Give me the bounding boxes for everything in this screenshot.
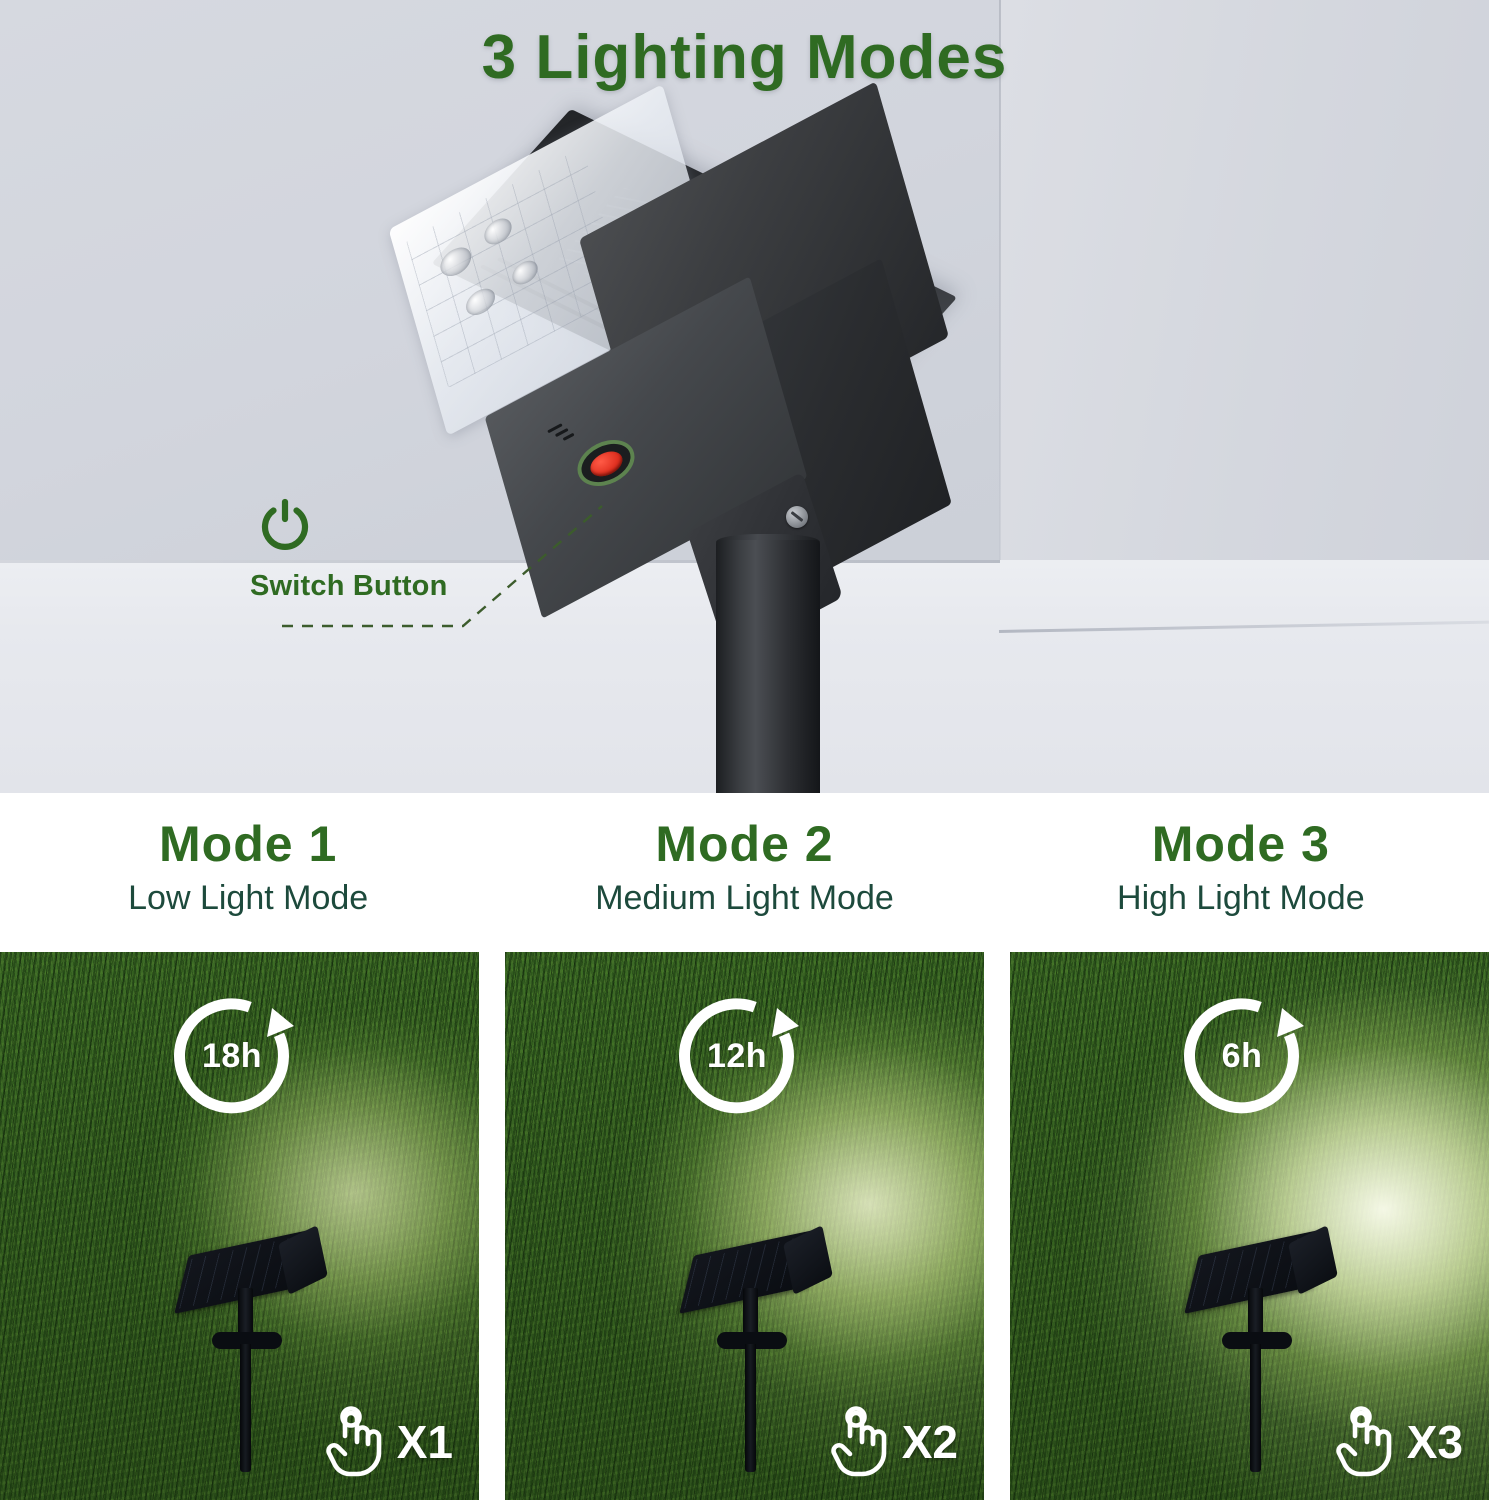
- tap-hand-icon: [1333, 1406, 1395, 1478]
- callout-label: Switch Button: [250, 570, 448, 603]
- tap-count-label: X1: [397, 1415, 453, 1469]
- mode-panel-2: 12h X2: [505, 952, 984, 1500]
- mode-title: Mode 2: [496, 819, 992, 869]
- mode-photo-panels: 18h X1: [0, 952, 1489, 1500]
- mode-subtitle: Medium Light Mode: [496, 881, 992, 915]
- mode-headings-row: Mode 1 Low Light Mode Mode 2 Medium Ligh…: [0, 793, 1489, 952]
- switch-button-callout: Switch Button: [250, 498, 670, 638]
- solar-lamp-silhouette: [1180, 1222, 1350, 1472]
- mode-heading-2: Mode 2 Medium Light Mode: [496, 793, 992, 952]
- mode-panel-1: 18h X1: [0, 952, 479, 1500]
- runtime-timer-badge: 6h: [1178, 992, 1306, 1120]
- mode-heading-3: Mode 3 High Light Mode: [993, 793, 1489, 952]
- tap-count-badge: X1: [323, 1406, 453, 1478]
- mode-subtitle: Low Light Mode: [0, 881, 496, 915]
- mini-ground-stake: [745, 1344, 756, 1472]
- solar-lamp-silhouette: [675, 1222, 845, 1472]
- tap-count-badge: X2: [828, 1406, 958, 1478]
- mode-title: Mode 3: [993, 819, 1489, 869]
- tap-hand-icon: [323, 1406, 385, 1478]
- tap-count-label: X3: [1407, 1415, 1463, 1469]
- mini-ground-stake: [240, 1344, 251, 1472]
- runtime-timer-badge: 18h: [168, 992, 296, 1120]
- tap-hand-icon: [828, 1406, 890, 1478]
- runtime-duration-label: 18h: [168, 992, 296, 1120]
- mini-ground-stake: [1250, 1344, 1261, 1472]
- runtime-duration-label: 12h: [673, 992, 801, 1120]
- tap-count-badge: X3: [1333, 1406, 1463, 1478]
- callout-leader-line: [250, 498, 670, 638]
- runtime-duration-label: 6h: [1178, 992, 1306, 1120]
- mode-panel-3: 6h X3: [1010, 952, 1489, 1500]
- mode-subtitle: High Light Mode: [993, 881, 1489, 915]
- mount-pole: [716, 540, 820, 793]
- page-title: 3 Lighting Modes: [482, 23, 1008, 92]
- page-title-wrapper: 3 Lighting Modes: [0, 22, 1489, 93]
- power-icon: [258, 498, 312, 552]
- solar-lamp-silhouette: [170, 1222, 340, 1472]
- hero-product-photo: 3 Lighting Modes: [0, 0, 1489, 793]
- hinge-screw: [786, 506, 808, 528]
- mode-title: Mode 1: [0, 819, 496, 869]
- runtime-timer-badge: 12h: [673, 992, 801, 1120]
- infographic-page: 3 Lighting Modes: [0, 0, 1489, 1500]
- mode-heading-1: Mode 1 Low Light Mode: [0, 793, 496, 952]
- tap-count-label: X2: [902, 1415, 958, 1469]
- power-switch-button[interactable]: [586, 447, 626, 482]
